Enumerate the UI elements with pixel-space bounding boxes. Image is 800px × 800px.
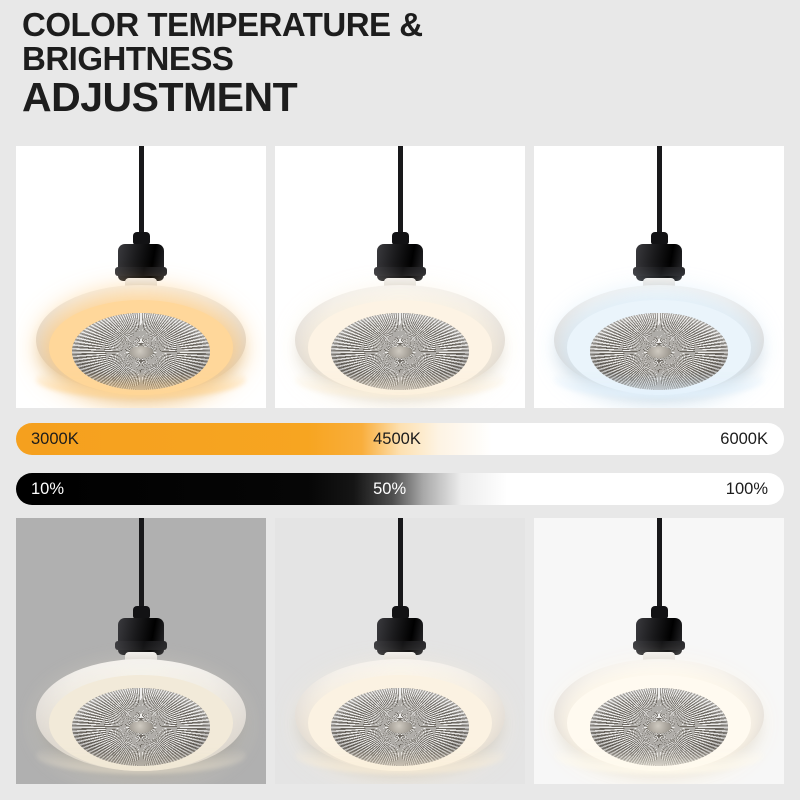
shade-lip [554, 736, 764, 774]
brightness-label-min: 10% [31, 473, 64, 505]
color-temperature-photo-row [16, 146, 784, 408]
shade-lip [36, 736, 246, 774]
lamp-panel-4500k[interactable] [275, 146, 525, 408]
lamp-panel-brightness-10[interactable] [16, 518, 266, 784]
lamp-panel-brightness-50[interactable] [275, 518, 525, 784]
lamp-socket [118, 244, 164, 281]
brightness-slider[interactable]: 10% 50% 100% [16, 473, 784, 505]
lamp-shade [36, 659, 246, 771]
color-temperature-slider[interactable]: 3000K 4500K 6000K [16, 423, 784, 455]
brightness-label-max: 100% [726, 473, 768, 505]
brightness-label-mid: 50% [373, 473, 406, 505]
pendant-fan-lamp-icon [16, 518, 266, 784]
color-temp-label-max: 6000K [720, 423, 768, 455]
lamp-shade [554, 285, 764, 395]
shade-lip [295, 361, 505, 398]
cord [139, 518, 144, 614]
brightness-photo-row [16, 518, 784, 784]
pendant-fan-lamp-icon [275, 146, 525, 408]
color-temp-label-min: 3000K [31, 423, 79, 455]
color-temp-label-mid: 4500K [373, 423, 421, 455]
shade-lip [36, 361, 246, 398]
lamp-shade [295, 285, 505, 395]
lamp-socket [636, 618, 682, 655]
cord [398, 518, 403, 614]
cord [657, 518, 662, 614]
lamp-socket [118, 618, 164, 655]
lamp-socket [377, 618, 423, 655]
cord-nut [133, 606, 150, 619]
lamp-panel-6000k[interactable] [534, 146, 784, 408]
shade-lip [295, 736, 505, 774]
lamp-panel-brightness-100[interactable] [534, 518, 784, 784]
lamp-shade [36, 285, 246, 395]
shade-lip [554, 361, 764, 398]
page-title: COLOR TEMPERATURE & BRIGHTNESS ADJUSTMEN… [22, 8, 762, 119]
page-title-line-2: BRIGHTNESS [22, 42, 762, 76]
pendant-fan-lamp-icon [534, 518, 784, 784]
pendant-fan-lamp-icon [534, 146, 784, 408]
lamp-shade [554, 659, 764, 771]
page-title-line-1: COLOR TEMPERATURE & [22, 8, 762, 42]
cord-nut [392, 606, 409, 619]
cord-nut [651, 606, 668, 619]
cord [398, 146, 403, 240]
pendant-fan-lamp-icon [16, 146, 266, 408]
lamp-socket [377, 244, 423, 281]
lamp-socket [636, 244, 682, 281]
pendant-fan-lamp-icon [275, 518, 525, 784]
lamp-shade [295, 659, 505, 771]
page-title-line-3: ADJUSTMENT [22, 77, 762, 119]
lamp-panel-3000k[interactable] [16, 146, 266, 408]
cord [139, 146, 144, 240]
cord [657, 146, 662, 240]
